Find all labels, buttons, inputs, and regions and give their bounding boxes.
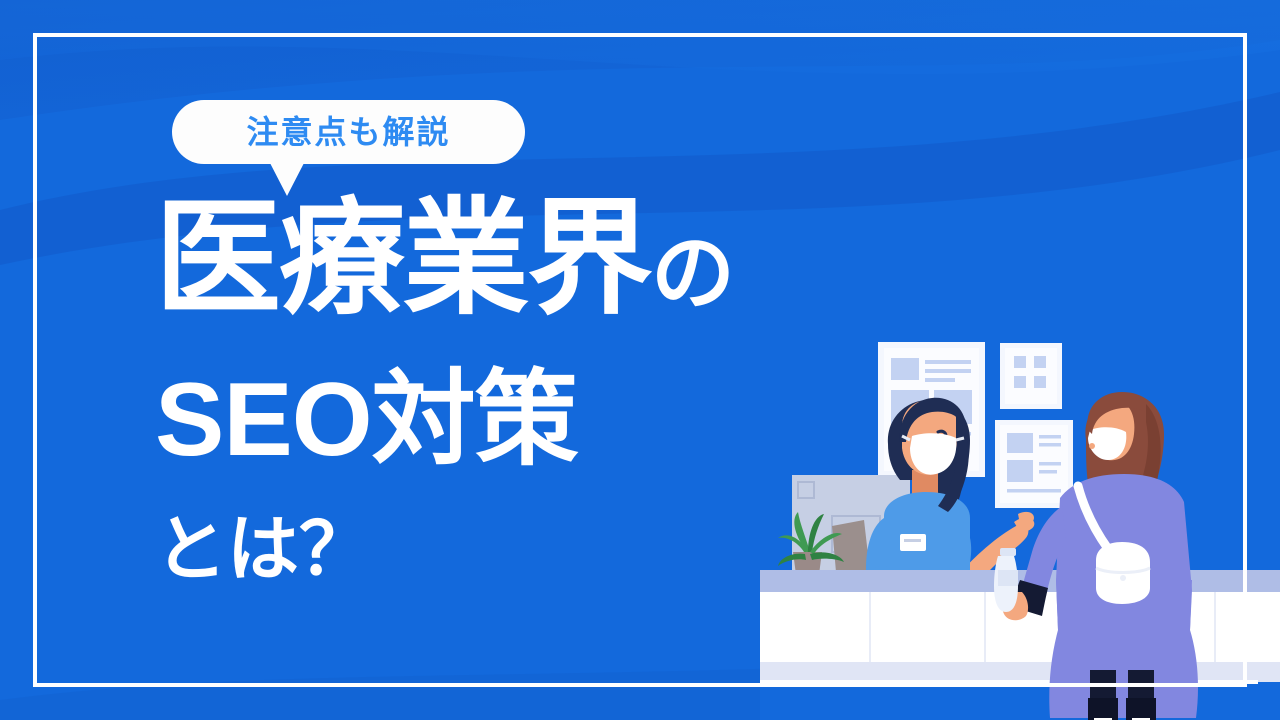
- title-line-1: 医療業界の: [155, 196, 733, 322]
- title-line-3: とは？: [155, 514, 733, 586]
- wall-poster-small-bottom: [995, 420, 1073, 508]
- title-line-1-kana: の: [651, 226, 733, 320]
- medical-reception-illustration: [760, 330, 1280, 720]
- wall-poster-small-top: [1000, 343, 1062, 409]
- callout-badge-body: 注意点も解説: [172, 100, 525, 164]
- callout-badge-label: 注意点も解説: [246, 116, 450, 148]
- page-title: 医療業界の SEO対策 とは？: [155, 196, 733, 586]
- title-line-1-kanji: 医療業界: [155, 188, 651, 329]
- title-line-2: SEO対策: [155, 368, 733, 472]
- floor-band: [760, 662, 1280, 720]
- hand-sanitizer-bottle: [994, 548, 1018, 612]
- desk-tablet: [832, 520, 870, 572]
- callout-badge: 注意点も解説: [172, 100, 525, 164]
